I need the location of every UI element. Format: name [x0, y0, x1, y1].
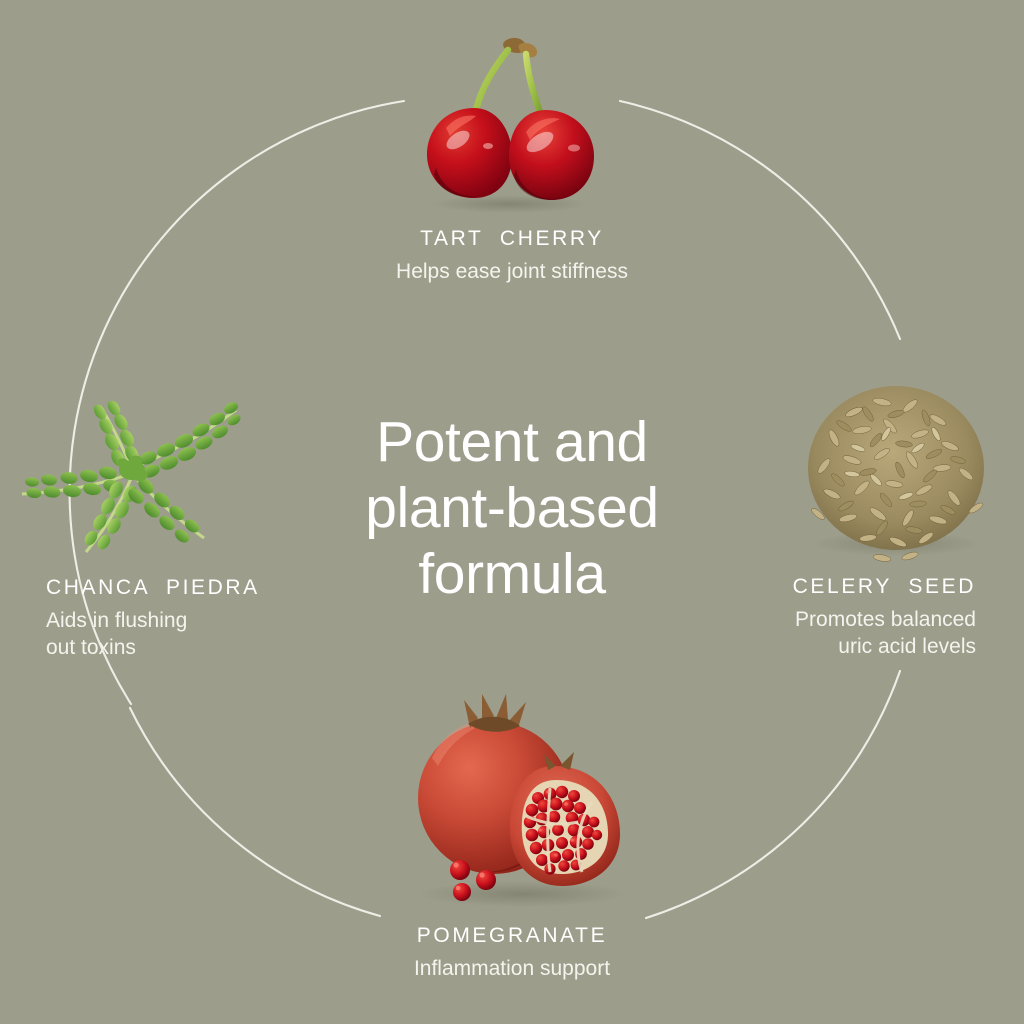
arc-bottom-left	[130, 708, 380, 916]
tart-cherry-image	[400, 28, 620, 218]
node-title-pomegranate: POMEGRANATE	[0, 923, 1024, 949]
node-desc-pomegranate: Inflammation support	[0, 956, 1024, 983]
cherry-left	[427, 108, 512, 198]
chanca-frond-upper-right	[132, 400, 242, 480]
node-title-tart-cherry: TART CHERRY	[0, 226, 1024, 252]
celery-seed-image	[790, 368, 1002, 570]
arc-bottom-right	[646, 671, 900, 918]
infographic-canvas: Potent and plant-based formula TART CHER…	[0, 0, 1024, 1024]
pomegranate-crown	[464, 694, 526, 732]
arc-top-right	[620, 101, 900, 339]
node-desc-celery-seed: Promotes balanced uric acid levels	[696, 607, 976, 661]
node-desc-chanca-piedra: Aids in flushing out toxins	[46, 608, 306, 662]
chanca-frond-lower-right	[125, 475, 204, 545]
node-desc-tart-cherry: Helps ease joint stiffness	[0, 259, 1024, 286]
node-label-chanca-piedra: CHANCA PIEDRA Aids in flushing out toxin…	[46, 575, 306, 662]
cherry-stem-left	[476, 50, 508, 110]
chanca-piedra-image	[8, 358, 256, 564]
node-title-celery-seed: CELERY SEED	[696, 574, 976, 600]
node-label-pomegranate: POMEGRANATE Inflammation support	[0, 923, 1024, 983]
cherry-stem-right	[526, 54, 540, 112]
page-title: Potent and plant-based formula	[282, 409, 742, 607]
node-label-celery-seed: CELERY SEED Promotes balanced uric acid …	[696, 574, 976, 661]
cherry-right	[509, 110, 594, 200]
node-title-chanca-piedra: CHANCA PIEDRA	[46, 575, 306, 601]
pomegranate-image	[398, 688, 634, 912]
node-label-tart-cherry: TART CHERRY Helps ease joint stiffness	[0, 226, 1024, 286]
